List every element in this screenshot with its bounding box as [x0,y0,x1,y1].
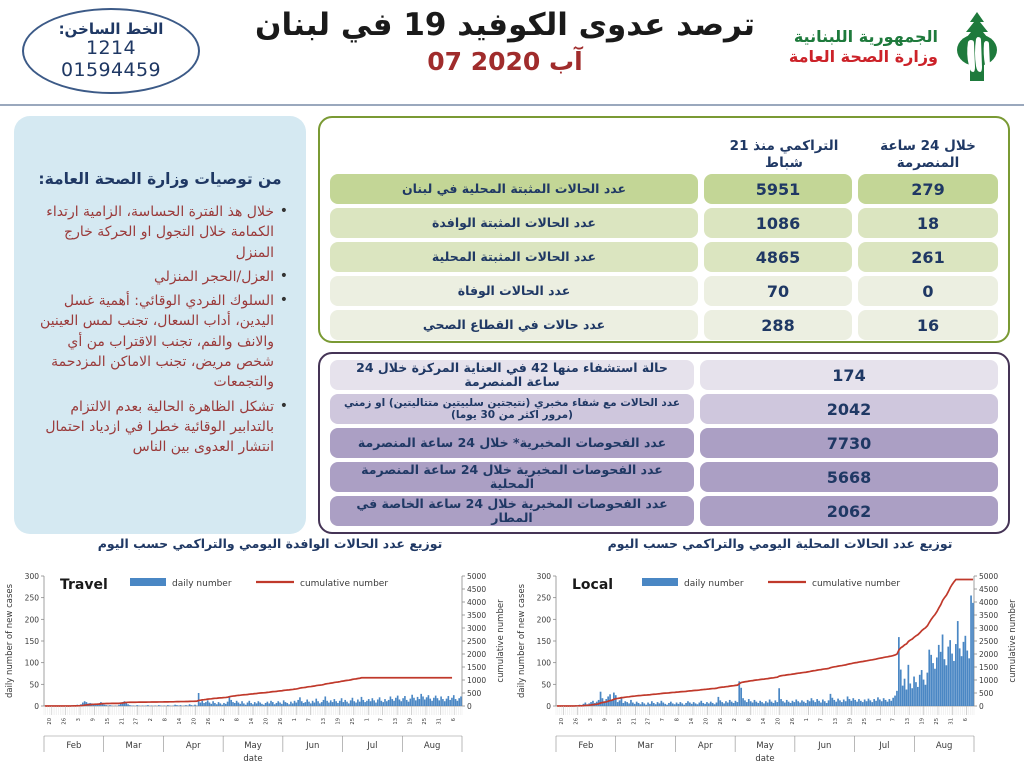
chart-local: 0501001502002503000500100015002000250030… [512,558,1024,766]
svg-text:4500: 4500 [979,585,998,594]
svg-text:25: 25 [934,718,940,725]
row-label: عدد الفحوصات المخبرية خلال 24 ساعة المنص… [330,462,694,492]
svg-text:Apr: Apr [698,741,713,751]
svg-text:6: 6 [451,718,457,721]
svg-text:7: 7 [660,718,666,721]
table-row: عدد الفحوصات المخبرية خلال 24 ساعة المنص… [330,462,998,492]
svg-text:21: 21 [119,718,125,725]
svg-text:3500: 3500 [979,611,998,620]
svg-text:14: 14 [689,717,695,724]
svg-text:14: 14 [249,717,255,724]
list-item: السلوك الفردي الوقائي: أهمية غسل اليدين،… [32,291,288,392]
row-value-24h: 18 [858,208,998,238]
hotline-label: الخط الساخن: [59,21,164,38]
svg-text:1000: 1000 [979,676,998,685]
svg-text:Feb: Feb [578,741,593,751]
svg-text:cumulative number: cumulative number [812,579,900,589]
svg-text:20: 20 [191,718,197,725]
svg-text:200: 200 [537,615,552,624]
svg-text:20: 20 [47,718,53,725]
svg-text:250: 250 [25,594,40,603]
svg-text:19: 19 [336,718,342,725]
svg-text:31: 31 [948,718,954,725]
svg-text:50: 50 [29,680,39,689]
svg-text:250: 250 [537,594,552,603]
svg-text:15: 15 [617,718,623,725]
row-value: 2042 [700,394,998,424]
svg-text:20: 20 [559,718,565,725]
table-row: حالة استشفاء منها 42 في العناية المركزة … [330,360,998,390]
title-block: ترصد عدوى الكوفيد 19 في لبنان 07 آب 2020 [250,6,760,76]
svg-text:19: 19 [920,718,926,725]
chart-local-svg: 0501001502002503000500100015002000250030… [512,558,1024,766]
svg-text:20: 20 [775,718,781,725]
recommendations-list: خلال هذ الفترة الحساسة، الزامية ارتداء ا… [32,202,288,458]
svg-text:Jun: Jun [817,741,831,751]
table-row: عدد الحالات المثبتة الوافدة 1086 18 [330,208,998,238]
svg-text:14: 14 [761,717,767,724]
svg-text:Aug: Aug [424,741,441,751]
svg-text:1500: 1500 [979,663,998,672]
svg-text:25: 25 [350,718,356,725]
svg-text:25: 25 [422,718,428,725]
svg-text:31: 31 [436,718,442,725]
column-header-cumulative: التراكمي منذ 21 شباط [710,138,858,172]
svg-text:4500: 4500 [467,585,486,594]
svg-text:2500: 2500 [979,637,998,646]
svg-text:26: 26 [62,718,68,725]
svg-text:500: 500 [979,689,994,698]
svg-text:date: date [755,754,774,764]
svg-text:3: 3 [588,718,594,721]
svg-text:13: 13 [833,718,839,725]
row-value: 2062 [700,496,998,526]
table-row: عدد الحالات مع شفاء مخبري (نتيجتين سلبيت… [330,394,998,424]
report-date: 07 آب 2020 [250,47,760,76]
svg-text:300: 300 [537,572,552,581]
svg-text:8: 8 [747,718,753,721]
svg-text:Feb: Feb [66,741,81,751]
row-label: عدد حالات في القطاع الصحي [330,310,698,340]
svg-text:9: 9 [90,718,96,721]
svg-text:13: 13 [393,718,399,725]
row-value-cumulative: 5951 [704,174,852,204]
svg-text:Jun: Jun [305,741,319,751]
svg-text:cumulative number: cumulative number [496,599,506,683]
svg-text:27: 27 [646,718,652,725]
page-header: الخط الساخن: 1214 01594459 ترصد عدوى الك… [0,0,1024,104]
row-value-24h: 261 [858,242,998,272]
row-value-24h: 16 [858,310,998,340]
header-divider [0,104,1024,106]
recommendations-panel: من توصيات وزارة الصحة العامة: خلال هذ ال… [14,116,306,534]
svg-text:7: 7 [891,718,897,721]
hotline-badge: الخط الساخن: 1214 01594459 [22,8,200,94]
row-label: عدد الفحوصات المخبرية خلال 24 ساعة الخاص… [330,496,694,526]
svg-text:1000: 1000 [467,676,486,685]
svg-text:1: 1 [804,718,810,721]
svg-text:3500: 3500 [467,611,486,620]
svg-text:150: 150 [25,637,40,646]
svg-text:1: 1 [876,718,882,721]
chart-travel: 0501001502002503000500100015002000250030… [0,558,512,766]
svg-text:May: May [244,741,262,751]
row-value-cumulative: 4865 [704,242,852,272]
svg-text:daily number of new cases: daily number of new cases [517,583,527,698]
svg-text:100: 100 [537,659,552,668]
svg-text:daily number: daily number [172,579,232,589]
svg-text:8: 8 [163,718,169,721]
row-value-24h: 0 [858,276,998,306]
svg-text:2: 2 [220,718,226,721]
svg-text:7: 7 [307,718,313,721]
svg-text:Mar: Mar [638,741,655,751]
cedar-tree-icon [946,10,1008,84]
svg-text:20: 20 [263,718,269,725]
svg-text:5000: 5000 [467,572,486,581]
row-label: عدد الحالات الوفاة [330,276,698,306]
row-label: عدد الفحوصات المخبرية* خلال 24 ساعة المن… [330,428,694,458]
list-item: تشكل الظاهرة الحالية بعدم الالتزام بالتد… [32,397,288,458]
charts-section: توزيع عدد الحالات المحلية اليومي والتراك… [0,536,1024,768]
svg-text:9: 9 [602,718,608,721]
svg-text:date: date [243,754,262,764]
svg-text:6: 6 [963,718,969,721]
row-value-cumulative: 70 [704,276,852,306]
row-label: عدد الحالات المثبتة الوافدة [330,208,698,238]
table-row: عدد الفحوصات المخبرية خلال 24 ساعة الخاص… [330,496,998,526]
svg-text:13: 13 [905,718,911,725]
svg-text:7: 7 [379,718,385,721]
svg-text:1500: 1500 [467,663,486,672]
svg-text:15: 15 [105,718,111,725]
table-row: عدد الفحوصات المخبرية* خلال 24 ساعة المن… [330,428,998,458]
hotline-number-secondary: 01594459 [61,60,161,82]
svg-text:2500: 2500 [467,637,486,646]
table-row: عدد الحالات المثبتة المحلية 4865 261 [330,242,998,272]
svg-text:4000: 4000 [467,598,486,607]
table-row: عدد حالات في القطاع الصحي 288 16 [330,310,998,340]
svg-text:Apr: Apr [186,741,201,751]
chart-caption-travel: توزيع عدد الحالات الوافدة اليومي والتراك… [70,536,470,551]
svg-text:Mar: Mar [126,741,143,751]
logo-ministry-label: وزارة الصحة العامة [789,47,938,67]
svg-text:Local: Local [572,577,613,593]
svg-text:3000: 3000 [467,624,486,633]
svg-text:26: 26 [206,718,212,725]
svg-text:19: 19 [408,718,414,725]
chart-caption-local: توزيع عدد الحالات المحلية اليومي والتراك… [560,536,1000,551]
svg-text:0: 0 [979,702,984,711]
hotline-number-primary: 1214 [86,38,136,60]
list-item: العزل/الحجر المنزلي [32,267,288,287]
row-value: 174 [700,360,998,390]
svg-text:27: 27 [134,718,140,725]
row-value-cumulative: 288 [704,310,852,340]
svg-text:1: 1 [292,718,298,721]
svg-text:3000: 3000 [979,624,998,633]
recommendations-title: من توصيات وزارة الصحة العامة: [32,170,288,188]
svg-text:14: 14 [177,717,183,724]
row-value-24h: 279 [858,174,998,204]
svg-text:20: 20 [703,718,709,725]
svg-text:8: 8 [235,718,241,721]
list-item: خلال هذ الفترة الحساسة، الزامية ارتداء ا… [32,202,288,263]
svg-text:Jul: Jul [366,741,377,751]
svg-text:2000: 2000 [467,650,486,659]
svg-text:100: 100 [25,659,40,668]
chart-travel-svg: 0501001502002503000500100015002000250030… [0,558,512,766]
confirmed-cases-table: التراكمي منذ 21 شباط خلال 24 ساعة المنصر… [318,116,1010,343]
row-label: عدد الحالات المثبتة المحلية في لبنان [330,174,698,204]
svg-text:Travel: Travel [60,577,108,593]
svg-text:1: 1 [364,718,370,721]
svg-text:26: 26 [790,718,796,725]
svg-text:Jul: Jul [878,741,889,751]
svg-text:13: 13 [321,718,327,725]
svg-text:0: 0 [546,702,551,711]
svg-text:daily number of new cases: daily number of new cases [5,583,15,698]
svg-text:cumulative number: cumulative number [300,579,388,589]
svg-text:26: 26 [278,718,284,725]
svg-text:5000: 5000 [979,572,998,581]
row-value: 5668 [700,462,998,492]
row-value: 7730 [700,428,998,458]
svg-text:26: 26 [718,718,724,725]
svg-text:cumulative number: cumulative number [1008,599,1018,683]
svg-text:25: 25 [862,718,868,725]
table-row: عدد الحالات المثبتة المحلية في لبنان 595… [330,174,998,204]
svg-text:0: 0 [467,702,472,711]
svg-text:26: 26 [574,718,580,725]
ministry-logo-text: الجمهورية اللبنانية وزارة الصحة العامة [789,27,938,67]
svg-text:3: 3 [76,718,82,721]
svg-text:150: 150 [537,637,552,646]
svg-text:Aug: Aug [936,741,953,751]
ministry-logo: الجمهورية اللبنانية وزارة الصحة العامة [789,10,1008,84]
main-content: من توصيات وزارة الصحة العامة: خلال هذ ال… [0,110,1024,535]
svg-text:7: 7 [819,718,825,721]
svg-text:2000: 2000 [979,650,998,659]
svg-text:4000: 4000 [979,598,998,607]
tests-recovery-table: حالة استشفاء منها 42 في العناية المركزة … [318,352,1010,534]
svg-text:50: 50 [541,680,551,689]
column-header-24h: خلال 24 ساعة المنصرمة [858,138,998,172]
svg-text:2: 2 [148,718,154,721]
svg-text:May: May [756,741,774,751]
svg-text:19: 19 [848,718,854,725]
table-row: عدد الحالات الوفاة 70 0 [330,276,998,306]
row-label: حالة استشفاء منها 42 في العناية المركزة … [330,360,694,390]
svg-text:200: 200 [25,615,40,624]
page-title: ترصد عدوى الكوفيد 19 في لبنان [250,6,760,45]
table-header-row: التراكمي منذ 21 شباط خلال 24 ساعة المنصر… [330,122,998,174]
svg-text:2: 2 [732,718,738,721]
svg-text:8: 8 [675,718,681,721]
svg-text:21: 21 [631,718,637,725]
svg-text:300: 300 [25,572,40,581]
svg-text:daily number: daily number [684,579,744,589]
row-value-cumulative: 1086 [704,208,852,238]
logo-republic-label: الجمهورية اللبنانية [789,27,938,47]
svg-text:0: 0 [34,702,39,711]
row-label: عدد الحالات المثبتة المحلية [330,242,698,272]
row-label: عدد الحالات مع شفاء مخبري (نتيجتين سلبيت… [330,394,694,424]
svg-text:500: 500 [467,689,482,698]
